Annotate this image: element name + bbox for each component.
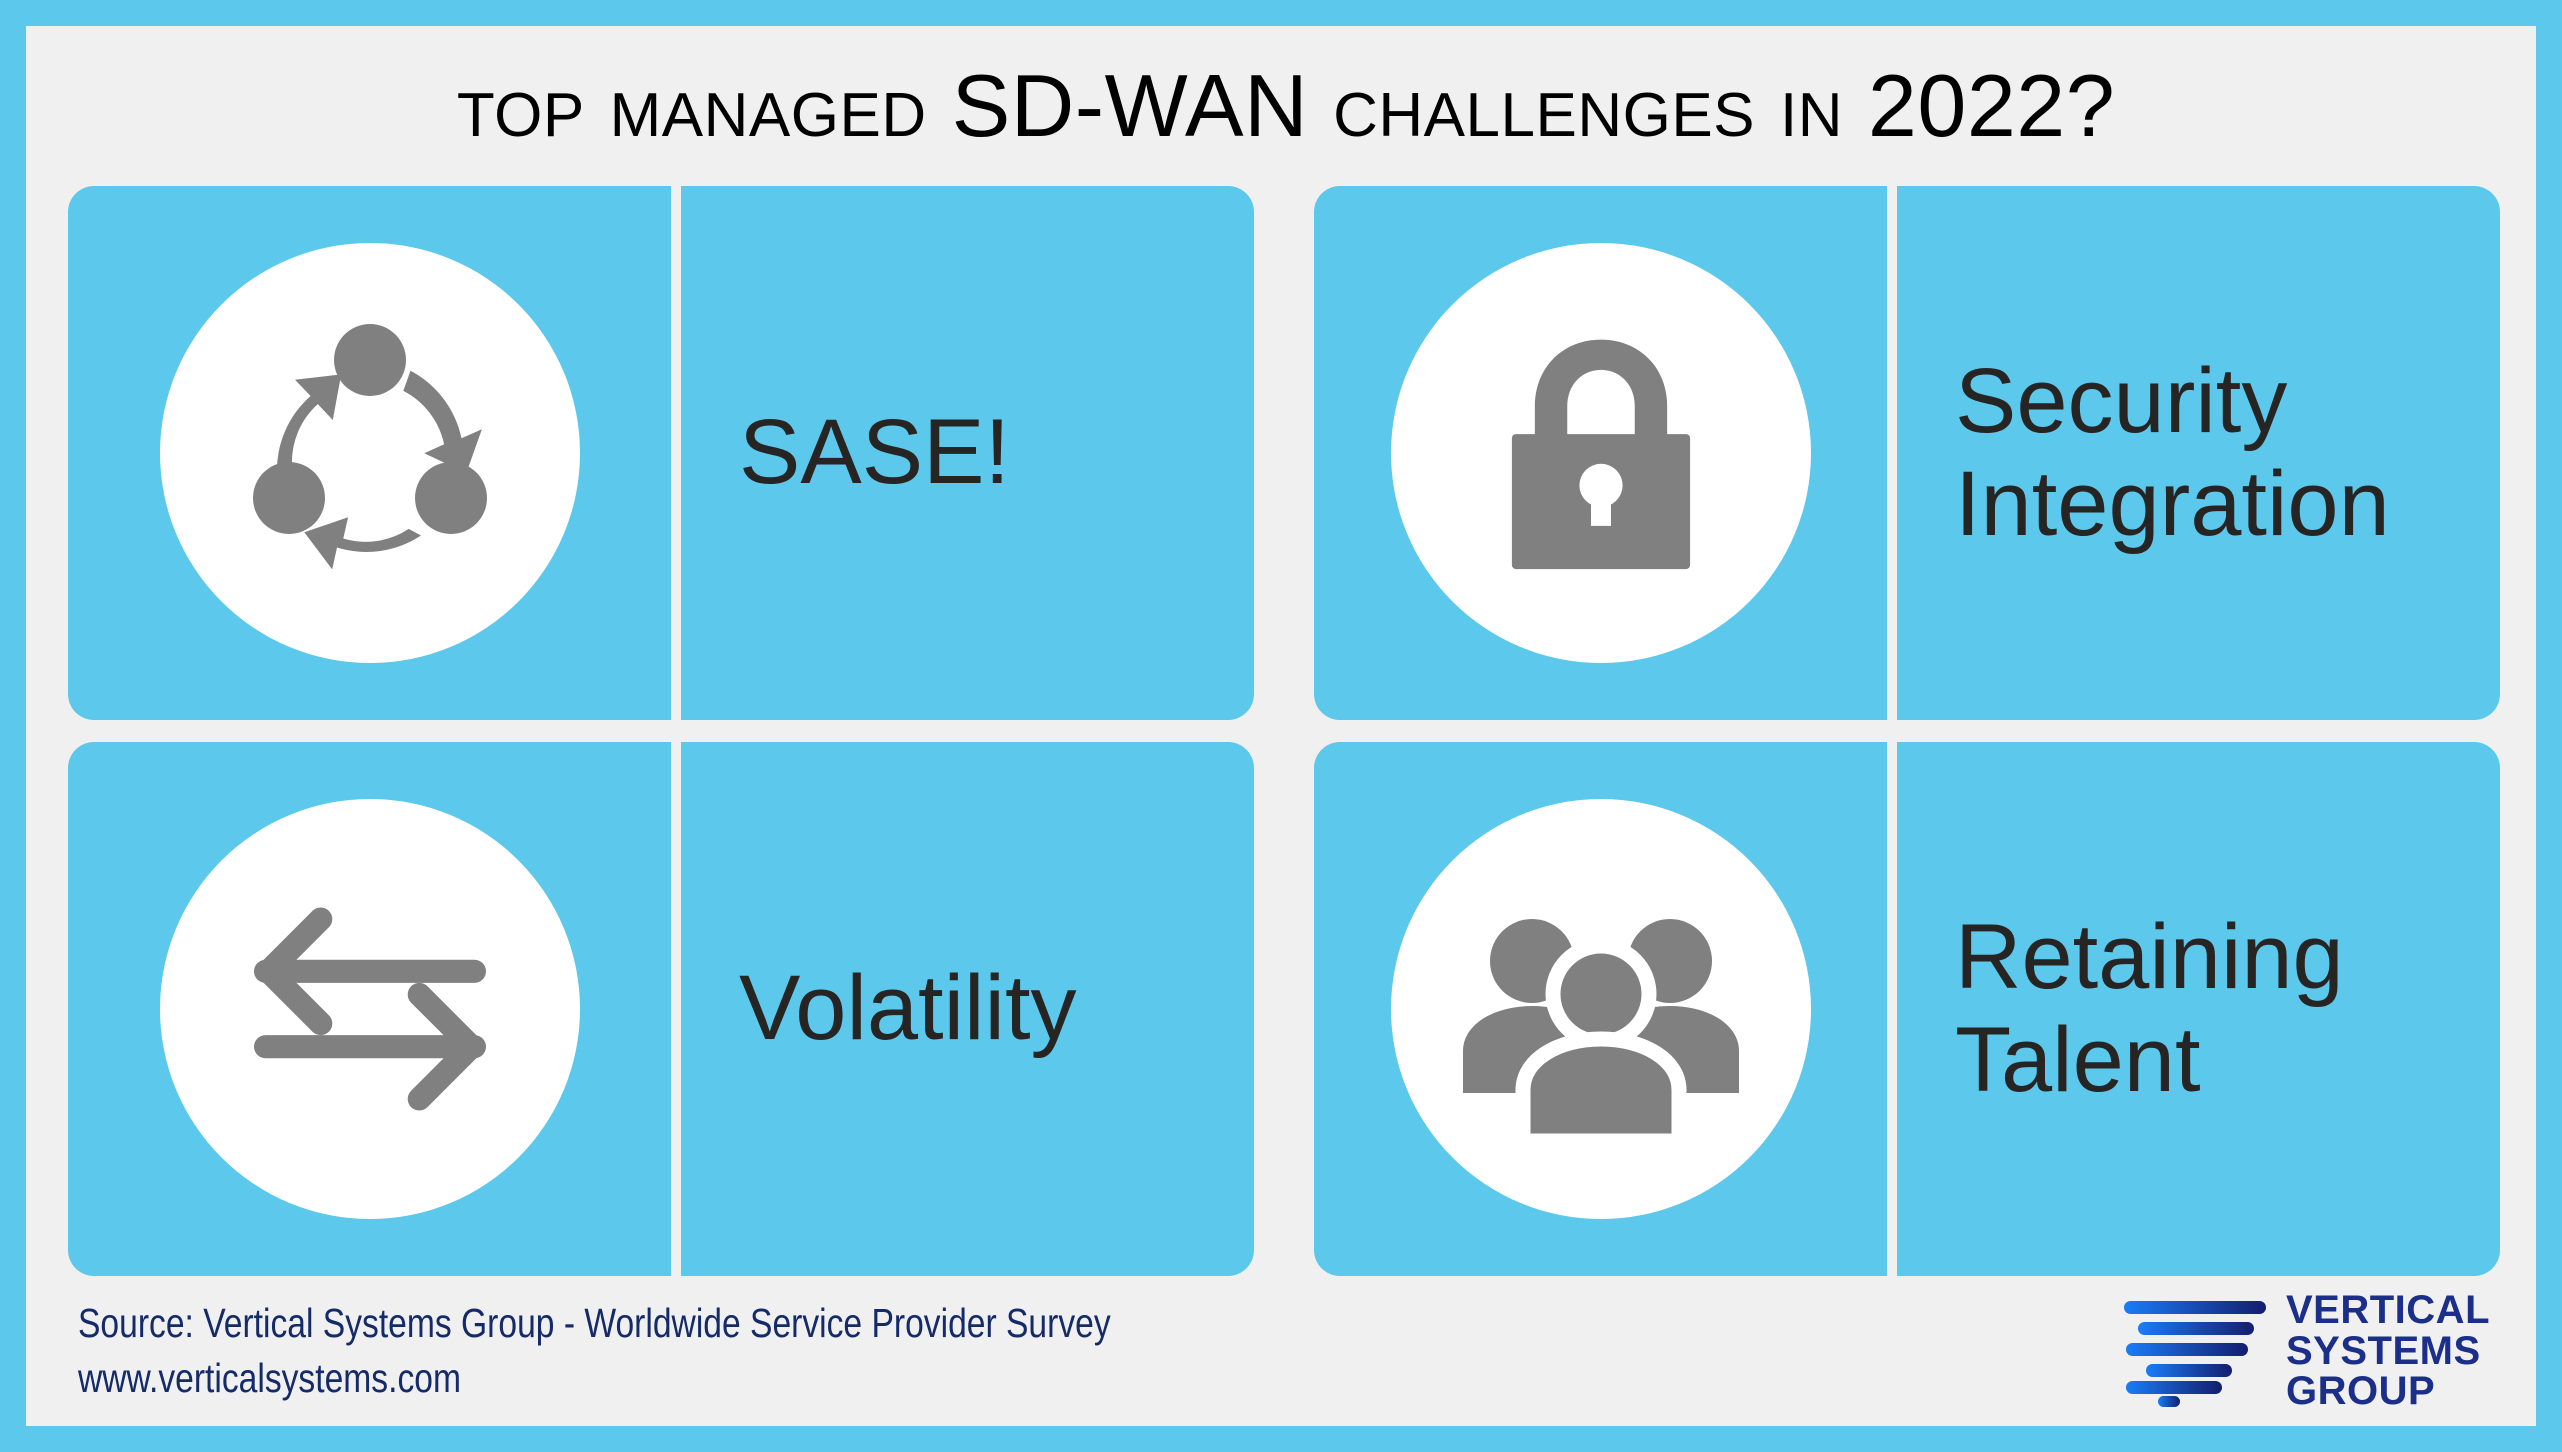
- logo-line-3: GROUP: [2286, 1371, 2490, 1412]
- source-website[interactable]: www.verticalsystems.com: [78, 1351, 1111, 1406]
- card-label-cell-volatility: Volatility: [681, 742, 1254, 1276]
- challenge-grid: SASE! Security: [26, 186, 2536, 1276]
- people-group-icon: [1451, 859, 1751, 1159]
- padlock-icon: [1466, 318, 1736, 588]
- source-line-1: Source: Vertical Systems Group - Worldwi…: [78, 1296, 1111, 1351]
- card-icon-cell-security: [1314, 186, 1887, 720]
- card-label-cell-sase: SASE!: [681, 186, 1254, 720]
- card-icon-cell-talent: [1314, 742, 1887, 1276]
- page-title: Top Managed SD-WAN Challenges in 2022?: [457, 55, 2115, 157]
- logo-line-1: VERTICAL: [2286, 1290, 2490, 1331]
- icon-disc: [160, 799, 580, 1219]
- source-block: Source: Vertical Systems Group - Worldwi…: [78, 1296, 1337, 1405]
- title-part-after: Challenges in 2022?: [1308, 56, 2115, 155]
- bidirectional-arrows-icon: [225, 864, 515, 1154]
- card-label-cell-security: Security Integration: [1897, 186, 2500, 720]
- card-label-security: Security Integration: [1897, 350, 2390, 556]
- logo-funnel-icon: [2122, 1295, 2272, 1407]
- icon-disc: [1391, 243, 1811, 663]
- card-label-line: Retaining: [1955, 906, 2344, 1009]
- card-label-sase: SASE!: [681, 401, 1010, 504]
- title-part-sdwan: SD-WAN: [952, 56, 1309, 155]
- infographic-root: Top Managed SD-WAN Challenges in 2022?: [0, 0, 2562, 1452]
- card-label-line: Security: [1955, 350, 2390, 453]
- card-icon-cell-volatility: [68, 742, 671, 1276]
- logo-line-2: SYSTEMS: [2286, 1331, 2490, 1372]
- icon-disc: [160, 243, 580, 663]
- title-bar: Top Managed SD-WAN Challenges in 2022?: [26, 26, 2536, 186]
- card-icon-cell-sase: [68, 186, 671, 720]
- icon-disc: [1391, 799, 1811, 1219]
- logo-wordmark: VERTICAL SYSTEMS GROUP: [2286, 1290, 2490, 1412]
- cycle-arrows-icon: [220, 303, 520, 603]
- card-label-line: Talent: [1955, 1009, 2344, 1112]
- card-label-line: Integration: [1955, 453, 2390, 556]
- card-label-cell-talent: Retaining Talent: [1897, 742, 2500, 1276]
- card-label-talent: Retaining Talent: [1897, 906, 2344, 1112]
- infographic-canvas: Top Managed SD-WAN Challenges in 2022?: [12, 12, 2550, 1440]
- title-part-before: Top Managed: [457, 56, 952, 155]
- card-label-volatility: Volatility: [681, 957, 1077, 1060]
- footer: Source: Vertical Systems Group - Worldwi…: [26, 1276, 2536, 1426]
- vertical-systems-group-logo: VERTICAL SYSTEMS GROUP: [2122, 1290, 2490, 1412]
